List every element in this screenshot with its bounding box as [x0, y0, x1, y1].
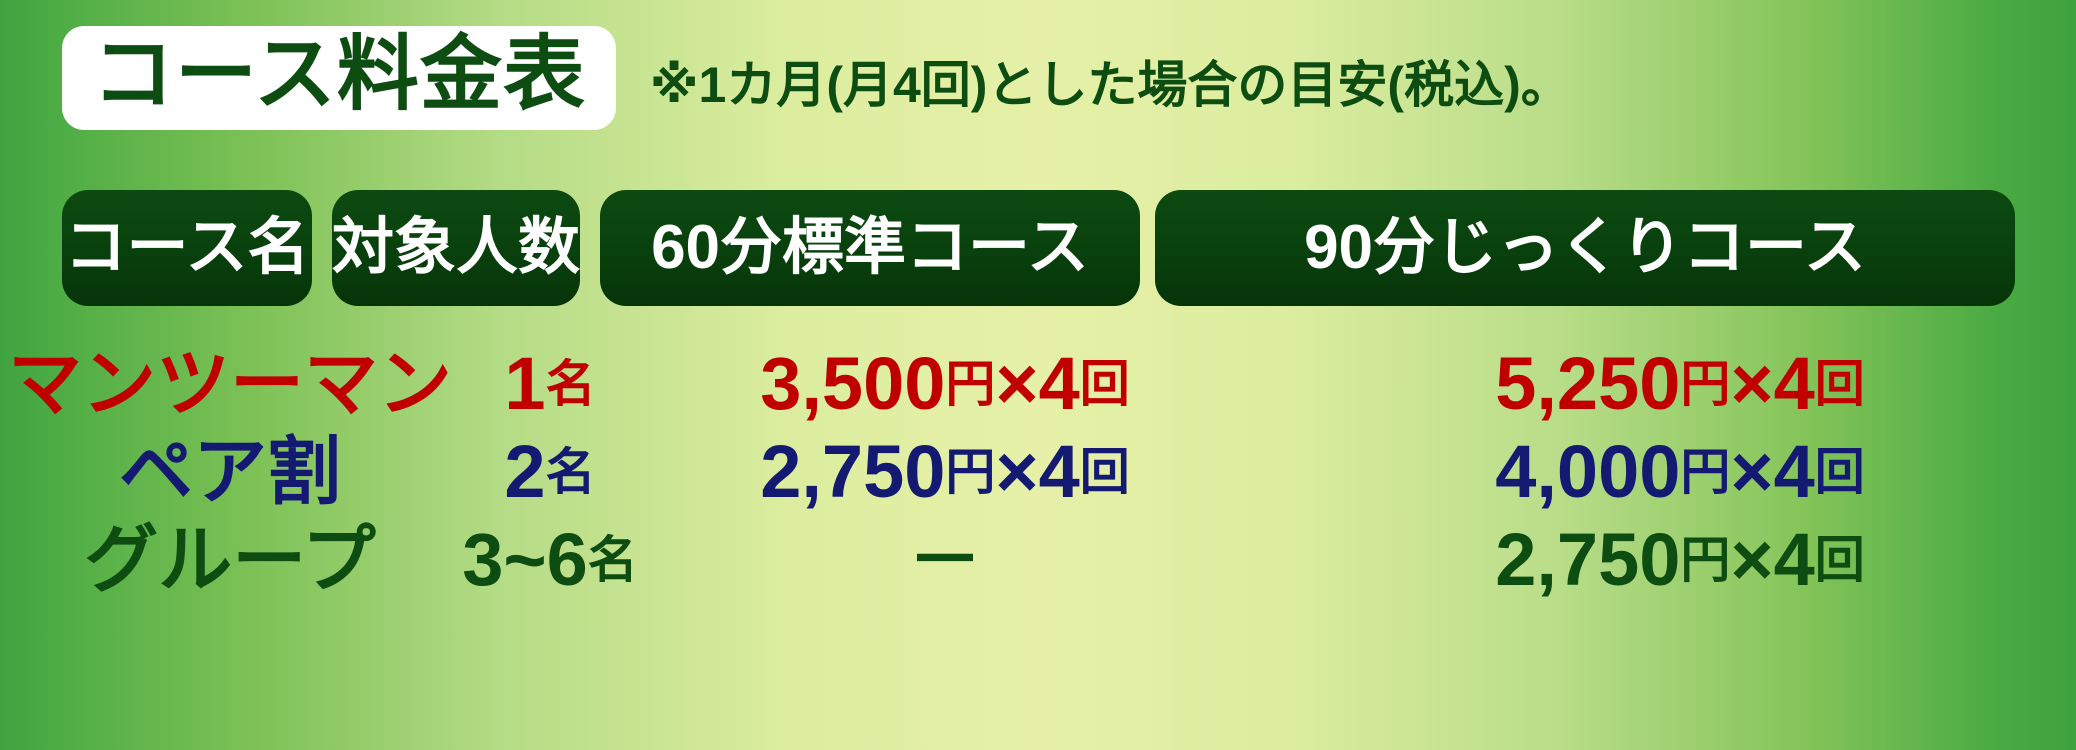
- table-header-course-name: コース名: [62, 190, 312, 306]
- price-times-unit: 回: [1815, 447, 1865, 497]
- price-times-unit: 回: [1080, 447, 1130, 497]
- people-count-value: 1: [504, 347, 545, 421]
- price-times-count: 4: [1039, 347, 1080, 421]
- price-amount: 4,000: [1495, 435, 1680, 509]
- people-count-unit: 名: [546, 447, 596, 497]
- table-header-label: 60分標準コース: [651, 217, 1089, 279]
- price-times-count: 4: [1774, 435, 1815, 509]
- title-badge: コース料金表: [62, 26, 616, 130]
- table-header-label: 対象人数: [332, 217, 580, 279]
- people-count-unit: 名: [588, 535, 638, 585]
- price-times-sign: ×: [1730, 347, 1773, 421]
- price-times-sign: ×: [1730, 435, 1773, 509]
- price-currency: 円: [945, 359, 995, 409]
- price-amount: 5,250: [1495, 347, 1680, 421]
- row-price-90min: 5,250円×4回: [1300, 340, 2060, 428]
- table-row: グループ 3~6名 － 2,750円×4回: [0, 516, 2076, 604]
- table-header-course-90min: 90分じっくりコース: [1155, 190, 2015, 306]
- price-times-count: 4: [1774, 523, 1815, 597]
- price-times-sign: ×: [1730, 523, 1773, 597]
- table-header-label: コース名: [65, 217, 310, 279]
- price-amount: 3,500: [760, 347, 945, 421]
- people-count-value: 3~6: [462, 523, 588, 597]
- table-row: マンツーマン 1名 3,500円×4回 5,250円×4回: [0, 340, 2076, 428]
- price-currency: 円: [1680, 359, 1730, 409]
- row-people-count: 2名: [440, 428, 660, 516]
- row-price-60min: 3,500円×4回: [665, 340, 1225, 428]
- row-course-name: ペア割: [20, 428, 440, 516]
- title-row: コース料金表 ※1カ月(月4回)とした場合の目安(税込)。: [0, 18, 2076, 138]
- price-currency: 円: [945, 447, 995, 497]
- price-times-count: 4: [1774, 347, 1815, 421]
- people-count-unit: 名: [546, 359, 596, 409]
- people-count-value: 2: [504, 435, 545, 509]
- price-currency: 円: [1680, 447, 1730, 497]
- price-times-sign: ×: [995, 347, 1038, 421]
- table-row: ペア割 2名 2,750円×4回 4,000円×4回: [0, 428, 2076, 516]
- page-title: コース料金表: [92, 34, 586, 116]
- row-people-count: 3~6名: [440, 516, 660, 604]
- price-times-sign: ×: [995, 435, 1038, 509]
- row-course-name: グループ: [20, 516, 440, 604]
- course-name-text: グループ: [84, 523, 376, 597]
- price-times-unit: 回: [1815, 535, 1865, 585]
- price-amount: 2,750: [760, 435, 945, 509]
- table-header-course-60min: 60分標準コース: [600, 190, 1140, 306]
- row-price-90min: 2,750円×4回: [1300, 516, 2060, 604]
- price-times-unit: 回: [1815, 359, 1865, 409]
- row-price-60min: －: [665, 516, 1225, 604]
- course-price-table-poster: コース料金表 ※1カ月(月4回)とした場合の目安(税込)。 コース名 対象人数 …: [0, 0, 2076, 750]
- table-header-label: 90分じっくりコース: [1304, 217, 1866, 279]
- price-currency: 円: [1680, 535, 1730, 585]
- row-course-name: マンツーマン: [20, 340, 440, 428]
- table-body: マンツーマン 1名 3,500円×4回 5,250円×4回 ペア割 2名 2,7…: [0, 340, 2076, 604]
- table-header-row: コース名 対象人数 60分標準コース 90分じっくりコース: [0, 190, 2076, 310]
- price-times-unit: 回: [1080, 359, 1130, 409]
- course-name-text: マンツーマン: [8, 347, 452, 421]
- price-amount: 2,750: [1495, 523, 1680, 597]
- table-header-people-count: 対象人数: [332, 190, 580, 306]
- row-price-90min: 4,000円×4回: [1300, 428, 2060, 516]
- row-people-count: 1名: [440, 340, 660, 428]
- title-note: ※1カ月(月4回)とした場合の目安(税込)。: [650, 46, 1571, 110]
- course-name-text: ペア割: [119, 435, 341, 509]
- price-times-count: 4: [1039, 435, 1080, 509]
- row-price-60min: 2,750円×4回: [665, 428, 1225, 516]
- price-amount: －: [908, 523, 982, 597]
